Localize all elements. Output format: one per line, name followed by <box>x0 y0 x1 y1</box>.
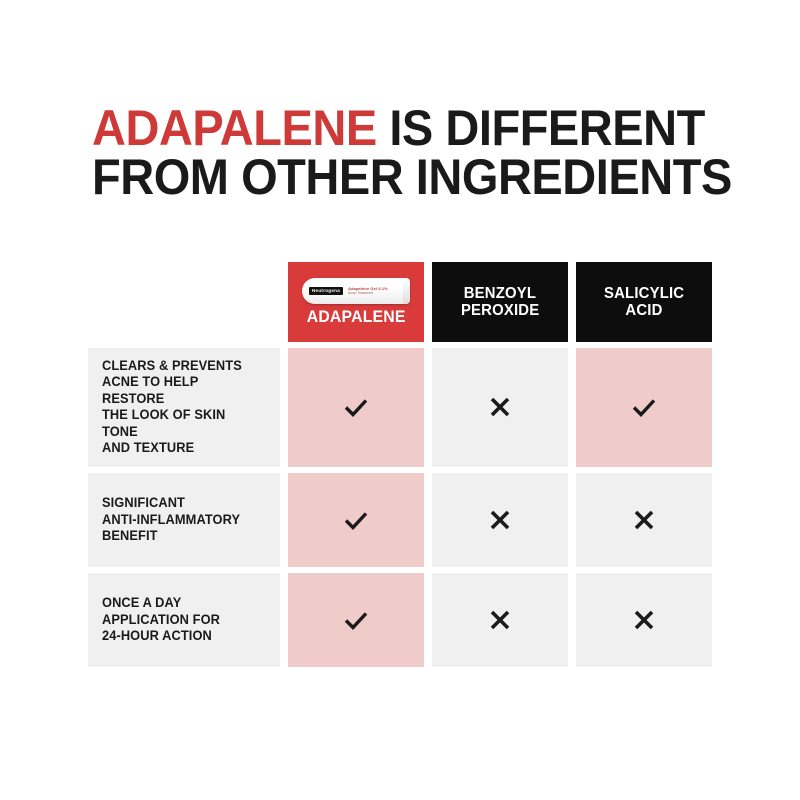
column-header-benzoyl-peroxide-line-2: PEROXIDE <box>461 302 539 319</box>
row-label-cell: SIGNIFICANT ANTI-INFLAMMATORY BENEFIT <box>88 473 280 567</box>
column-header-benzoyl-peroxide-line-1: BENZOYL <box>464 285 536 302</box>
check-icon <box>339 603 373 637</box>
tube-description: Adapalene Gel 0.1% Acne Treatment <box>348 286 388 295</box>
cell-row3-benzoyl-peroxide <box>432 573 568 667</box>
cell-row2-adapalene <box>288 473 424 567</box>
check-icon <box>627 390 661 424</box>
tube-desc-line-2: Acne Treatment <box>348 291 388 295</box>
cell-row3-salicylic-acid <box>576 573 712 667</box>
column-header-adapalene: Neutrogena Adapalene Gel 0.1% Acne Treat… <box>288 262 424 342</box>
header-label-spacer <box>88 262 280 342</box>
cell-row1-adapalene <box>288 348 424 467</box>
comparison-table: Neutrogena Adapalene Gel 0.1% Acne Treat… <box>88 262 712 667</box>
table-row: ONCE A DAY APPLICATION FOR 24-HOUR ACTIO… <box>88 573 712 667</box>
column-header-salicylic-acid-line-1: SALICYLIC <box>604 285 684 302</box>
row-label-cell: CLEARS & PREVENTS ACNE TO HELP RESTORE T… <box>88 348 280 467</box>
page-title: ADAPALENE IS DIFFERENT FROM OTHER INGRED… <box>92 104 694 202</box>
x-icon <box>483 503 517 537</box>
tube-brand-label: Neutrogena <box>309 287 343 296</box>
row-label: SIGNIFICANT ANTI-INFLAMMATORY BENEFIT <box>102 495 240 544</box>
headline-line-1-rest: IS DIFFERENT <box>377 100 705 156</box>
table-row: CLEARS & PREVENTS ACNE TO HELP RESTORE T… <box>88 348 712 467</box>
row-label: CLEARS & PREVENTS ACNE TO HELP RESTORE T… <box>102 358 264 457</box>
x-icon <box>627 603 661 637</box>
headline-accent-word: ADAPALENE <box>92 100 377 156</box>
x-icon <box>627 503 661 537</box>
cell-row1-benzoyl-peroxide <box>432 348 568 467</box>
cell-row2-salicylic-acid <box>576 473 712 567</box>
cell-row2-benzoyl-peroxide <box>432 473 568 567</box>
x-icon <box>483 603 517 637</box>
cell-row1-salicylic-acid <box>576 348 712 467</box>
check-icon <box>339 390 373 424</box>
column-header-benzoyl-peroxide: BENZOYL PEROXIDE <box>432 262 568 342</box>
table-row: SIGNIFICANT ANTI-INFLAMMATORY BENEFIT <box>88 473 712 567</box>
row-label-cell: ONCE A DAY APPLICATION FOR 24-HOUR ACTIO… <box>88 573 280 667</box>
comparison-infographic: ADAPALENE IS DIFFERENT FROM OTHER INGRED… <box>0 0 800 800</box>
column-header-salicylic-acid: SALICYLIC ACID <box>576 262 712 342</box>
product-tube-image: Neutrogena Adapalene Gel 0.1% Acne Treat… <box>302 278 410 304</box>
cell-row3-adapalene <box>288 573 424 667</box>
table-header-row: Neutrogena Adapalene Gel 0.1% Acne Treat… <box>88 262 712 342</box>
check-icon <box>339 503 373 537</box>
x-icon <box>483 390 517 424</box>
column-header-adapalene-label: ADAPALENE <box>307 308 406 326</box>
headline-line-2: FROM OTHER INGREDIENTS <box>92 153 694 202</box>
column-header-salicylic-acid-line-2: ACID <box>625 302 662 319</box>
headline-line-1: ADAPALENE IS DIFFERENT <box>92 104 694 153</box>
row-label: ONCE A DAY APPLICATION FOR 24-HOUR ACTIO… <box>102 595 220 644</box>
